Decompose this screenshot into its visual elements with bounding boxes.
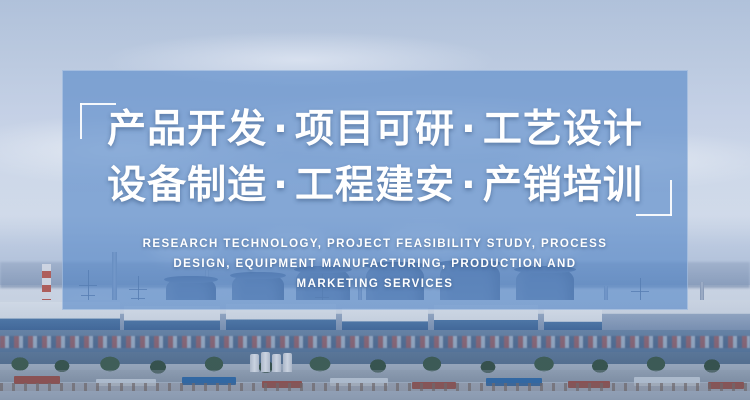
headline-segment: 产品开发 bbox=[107, 107, 267, 152]
headline-segment: 工程建安 bbox=[295, 163, 455, 208]
rail-cars bbox=[0, 336, 750, 348]
separator-dot-icon: · bbox=[267, 158, 295, 214]
promo-banner: 产品开发·项目可研·工艺设计 设备制造·工程建安·产销培训 RESEARCH T… bbox=[0, 0, 750, 400]
separator-dot-icon: · bbox=[267, 102, 295, 158]
subtitle-line: RESEARCH TECHNOLOGY, PROJECT FEASIBILITY… bbox=[92, 234, 658, 254]
separator-dot-icon: · bbox=[455, 158, 483, 214]
subtitle-line: MARKETING SERVICES bbox=[92, 274, 658, 294]
headline-segment: 产销培训 bbox=[483, 163, 643, 208]
headline-segment: 工艺设计 bbox=[483, 107, 643, 152]
headline-segment: 项目可研 bbox=[295, 107, 455, 152]
headline-segment: 设备制造 bbox=[107, 163, 267, 208]
subtitle: RESEARCH TECHNOLOGY, PROJECT FEASIBILITY… bbox=[92, 234, 658, 294]
headline: 产品开发·项目可研·工艺设计 设备制造·工程建安·产销培训 bbox=[62, 102, 688, 214]
headline-line-2: 设备制造·工程建安·产销培训 bbox=[62, 158, 688, 214]
banner-text-block: 产品开发·项目可研·工艺设计 设备制造·工程建安·产销培训 RESEARCH T… bbox=[62, 70, 688, 310]
subtitle-line: DESIGN, EQUIPMENT MANUFACTURING, PRODUCT… bbox=[92, 254, 658, 274]
viaduct bbox=[0, 383, 750, 391]
separator-dot-icon: · bbox=[455, 102, 483, 158]
headline-line-1: 产品开发·项目可研·工艺设计 bbox=[62, 102, 688, 158]
